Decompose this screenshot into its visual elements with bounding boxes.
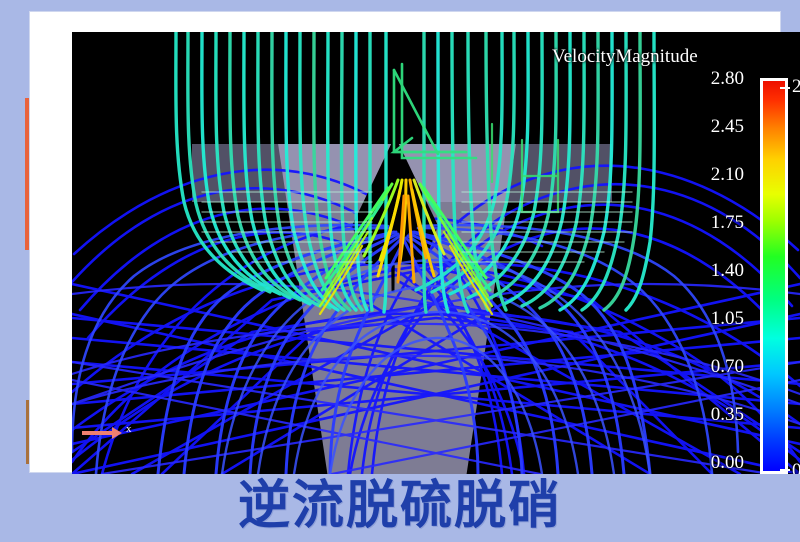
colorbar-tick-label: 1.40 — [711, 260, 744, 282]
colorbar-tick-label: 0.70 — [711, 356, 744, 378]
scalar-bar-legend: VelocityMagnitude 2.80 2.45 2.10 1.75 1.… — [542, 40, 792, 470]
colorbar-min-annotation: 0.00 — [792, 460, 800, 474]
axis-orientation-widget: x — [82, 420, 142, 448]
x-axis-arrow-shaft — [82, 431, 116, 435]
colorbar-tick-label: 2.80 — [711, 68, 744, 90]
colorbar-max-tick-mark — [780, 87, 790, 89]
colorbar-gradient[interactable] — [760, 78, 788, 474]
colorbar-max-annotation: 2.74 — [792, 76, 800, 98]
colorbar-tick-label: 1.75 — [711, 212, 744, 234]
colorbar-tick-label: 0.35 — [711, 404, 744, 426]
slide-background: x VelocityMagnitude 2.80 2.45 2.10 1.75 … — [0, 0, 800, 542]
colorbar-tick-label: 2.10 — [711, 164, 744, 186]
colorbar-tick-label: 1.05 — [711, 308, 744, 330]
image-frame: x VelocityMagnitude 2.80 2.45 2.10 1.75 … — [30, 12, 780, 472]
colorbar-tick-label: 2.45 — [711, 116, 744, 138]
render-viewport[interactable]: x VelocityMagnitude 2.80 2.45 2.10 1.75 … — [72, 32, 800, 474]
x-axis-arrow-head-icon — [112, 427, 122, 439]
cfd-scene: x VelocityMagnitude 2.80 2.45 2.10 1.75 … — [72, 32, 800, 474]
colorbar-min-tick-mark — [780, 469, 790, 471]
slide-caption: 逆流脱硫脱硝 — [0, 476, 800, 536]
x-axis-label: x — [126, 423, 132, 435]
colorbar-tick-label: 0.00 — [711, 452, 744, 474]
legend-title: VelocityMagnitude — [552, 46, 698, 68]
